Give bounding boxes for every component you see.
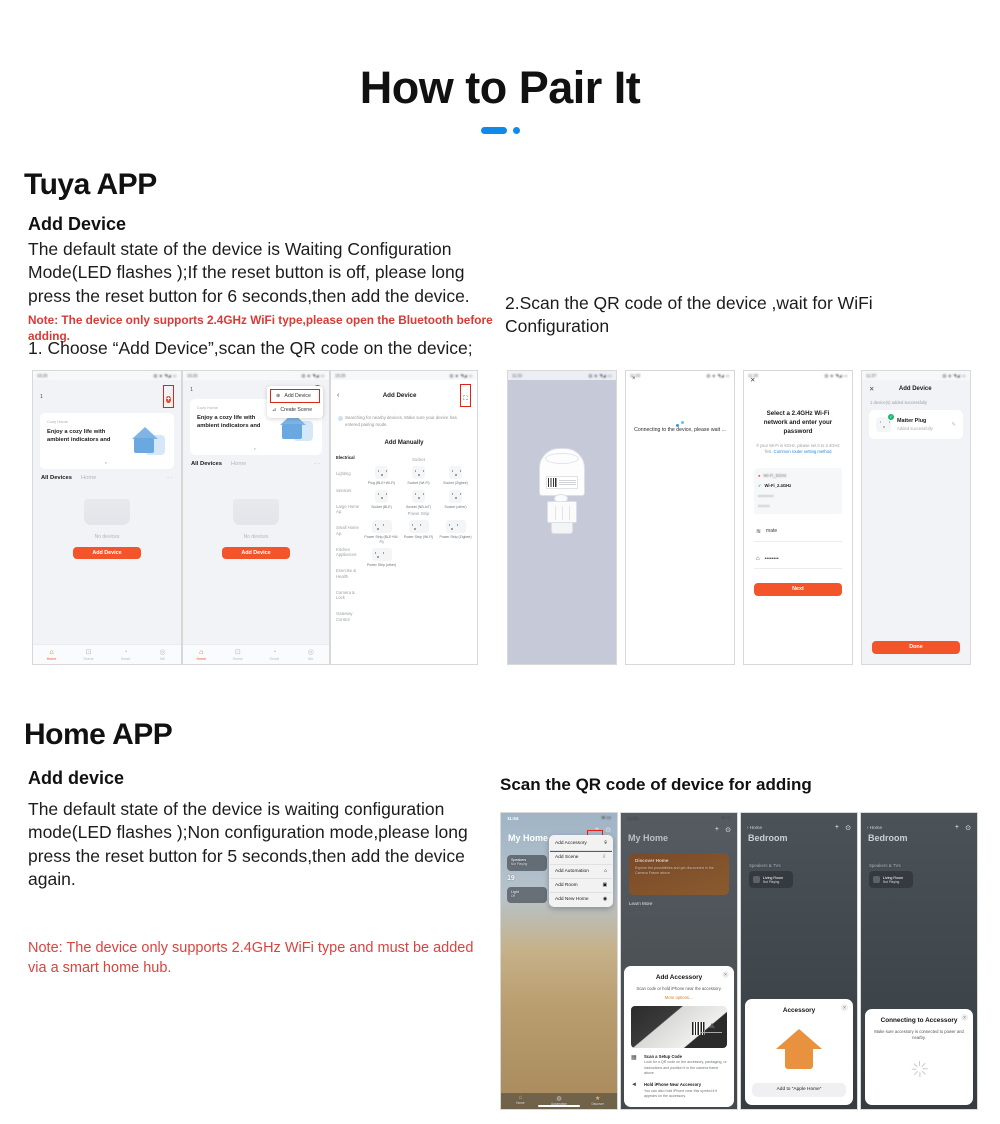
phone-ios-add-accessory: 11:55≋ ▭ My Home + ⊙ Discover Home Explo… bbox=[620, 812, 738, 1110]
device-result-row[interactable]: ✓ Matter Plug Added successfully ✎ bbox=[869, 410, 963, 439]
phone-add-result: 11:37 ▨ ◈ ◥◢ ▭ ✕ Add Device 1 device(s) … bbox=[861, 370, 971, 665]
new-home-icon: ◉ bbox=[603, 897, 607, 902]
home-icon: ⌂ bbox=[183, 648, 220, 657]
status-time: 11:37 bbox=[866, 373, 876, 378]
bottom-nav: ⌂Home ⊡Scene ◔Smart ◎Me bbox=[33, 644, 181, 664]
home-indicator bbox=[538, 1105, 580, 1107]
close-icon[interactable]: × bbox=[632, 376, 636, 382]
me-icon: ◎ bbox=[293, 648, 330, 657]
home-sub-title: Add device bbox=[28, 768, 124, 789]
tuya-step-1: 1. Choose “Add Device”,scan the QR code … bbox=[28, 337, 498, 360]
sheet-title: Connecting to Accessory bbox=[872, 1017, 966, 1025]
sidebar-item-gateway-control[interactable]: Gateway Control bbox=[336, 611, 364, 622]
close-icon[interactable]: ✕ bbox=[722, 971, 729, 978]
qr-label bbox=[546, 476, 578, 489]
empty-illustration bbox=[84, 499, 130, 525]
home-scan-heading: Scan the QR code of device for adding bbox=[500, 775, 812, 795]
device-name: Matter Plug bbox=[897, 418, 933, 424]
card-tag: Cozy Home bbox=[47, 419, 167, 424]
device-grid: Socket Plug (BLE+Wi-Fi) Socket (Wi-Fi) S… bbox=[364, 455, 477, 633]
power-strip-icon bbox=[409, 520, 429, 533]
password-field[interactable]: ⌂ •••••••• bbox=[754, 550, 842, 569]
nfc-icon: ◄ bbox=[631, 1082, 639, 1099]
category-sidebar: Electrical Lighting Sensors Large Home A… bbox=[331, 455, 364, 633]
next-button[interactable]: Next bbox=[754, 583, 842, 596]
status-bar: 11:33 ▨ ◈ ◥◢ ▭ bbox=[626, 371, 734, 380]
page-title: How to Pair It bbox=[0, 0, 1000, 114]
status-time: 11:32 bbox=[512, 373, 522, 378]
phone-ios-accessory-found: ‹ Home + ⊙ Bedroom Speakers & TVs Living… bbox=[740, 812, 858, 1110]
socket-icon bbox=[412, 490, 425, 503]
more-icon[interactable]: ⊙ bbox=[725, 826, 731, 834]
temperature-label: 19 bbox=[507, 875, 515, 882]
tab-home[interactable]: Home bbox=[231, 461, 246, 467]
option-hold-iphone-near[interactable]: ◄ Hold iPhone Near Accessory You can als… bbox=[631, 1082, 727, 1099]
empty-illustration bbox=[233, 499, 279, 525]
status-bar: 15:25 ▨ ◈ ◥◢ ▭ bbox=[331, 371, 477, 380]
create-scene-icon: ⊿ bbox=[272, 407, 276, 413]
menu-item-add-room[interactable]: Add Room▣ bbox=[550, 879, 612, 893]
blocked-icon: ● bbox=[758, 473, 761, 478]
indicator-dash bbox=[481, 127, 507, 134]
qr-scan-icon: ▦ bbox=[631, 1054, 639, 1076]
phone-ios-home-menu: 11:54 ≋ ▭ My Home + ⊙ SpeakersNot Playin… bbox=[500, 812, 618, 1110]
status-icons: ▨ ◈ ◥◢ ▭ bbox=[154, 373, 177, 378]
discover-banner[interactable]: Discover Home Explore the possibilities … bbox=[629, 853, 729, 895]
back-link[interactable]: ‹ Home bbox=[867, 825, 882, 830]
device-status: Added successfully bbox=[897, 426, 933, 431]
socket-icon bbox=[412, 466, 425, 479]
qr-code-icon bbox=[692, 1022, 705, 1035]
device-tile[interactable]: Socket (Wi-Fi) bbox=[401, 466, 436, 486]
status-time: 11:54 bbox=[507, 816, 519, 821]
status-icons: ≋ ▭ bbox=[602, 815, 611, 821]
home-section-title: Home APP bbox=[24, 718, 172, 752]
wifi-icon: ≋ bbox=[756, 528, 761, 535]
device-tile[interactable]: Socket (Zigbee) bbox=[438, 466, 473, 486]
card-headline: Enjoy a cozy life with ambient indicator… bbox=[197, 414, 265, 431]
warning-triangle-icon bbox=[709, 1023, 715, 1028]
room-title: Bedroom bbox=[868, 833, 908, 843]
accessory-tile[interactable]: Living Room Not Playing bbox=[869, 871, 913, 888]
wifi-sub-text: If your Wi-Fi is 5GHz, please set it to … bbox=[754, 443, 842, 456]
device-tile[interactable]: Power Strip (Wi-Fi) bbox=[401, 520, 436, 544]
nav-item-scene[interactable]: ⊡Scene bbox=[220, 645, 257, 664]
empty-text: No devices bbox=[183, 534, 329, 540]
tuya-sub-title: Add Device bbox=[28, 214, 126, 235]
socket-icon bbox=[449, 466, 462, 479]
sidebar-item-lighting[interactable]: Lighting bbox=[336, 471, 364, 476]
sheet-subtitle: Scan code or hold iPhone near the access… bbox=[631, 986, 727, 992]
device-tile[interactable]: Power Strip (BLE+Wi-Fi) bbox=[364, 520, 399, 544]
menu-item-add-scene[interactable]: Add Scene☾ bbox=[550, 851, 612, 865]
menu-item-add-automation[interactable]: Add Automation⌂ bbox=[550, 865, 612, 879]
wifi-row-dim-2[interactable]: ▭▭▭ bbox=[758, 501, 838, 511]
plug-icon: ✓ bbox=[876, 417, 891, 432]
smart-icon: ◔ bbox=[107, 648, 144, 657]
title-underline-indicator bbox=[0, 127, 1000, 134]
menu-item-add-device[interactable]: ⊕ Add Device bbox=[270, 389, 320, 403]
back-icon[interactable]: ‹ bbox=[337, 392, 339, 399]
speaker-icon bbox=[873, 876, 880, 883]
room-icon: ▣ bbox=[602, 883, 607, 888]
accessory-sheet: ✕ Accessory Add to “Apple Home” bbox=[745, 999, 853, 1105]
home-title: My Home bbox=[628, 833, 668, 843]
empty-text: No devices bbox=[33, 534, 181, 540]
searching-hint: Searching for nearby devices. Make sure … bbox=[331, 411, 477, 428]
menu-item-add-accessory[interactable]: Add Accessory⌾ bbox=[550, 836, 612, 851]
status-bar: 15:25 ▨ ◈ ◥◢ ▭ bbox=[183, 371, 329, 380]
status-bar: 11:55≋ ▭ bbox=[621, 813, 737, 823]
scene-icon: ☾ bbox=[603, 855, 607, 860]
device-tile[interactable]: Socket (other) bbox=[438, 490, 473, 510]
back-link[interactable]: ‹ Home bbox=[747, 825, 762, 830]
sheet-title: Accessory bbox=[752, 1007, 846, 1015]
nav-item-me[interactable]: ◎Me bbox=[293, 645, 330, 664]
lock-icon: ⌂ bbox=[756, 556, 760, 562]
status-icons: ▨ ◈ ◥◢ ▭ bbox=[943, 373, 966, 378]
status-icons: ▨ ◈ ◥◢ ▭ bbox=[825, 373, 848, 378]
status-icons: ▨ ◈ ◥◢ ▭ bbox=[450, 373, 473, 378]
plus-icon[interactable]: + bbox=[835, 824, 839, 831]
connecting-sheet: ✕ Connecting to Accessory Make sure acce… bbox=[865, 1009, 973, 1105]
sidebar-item-electrical[interactable]: Electrical bbox=[336, 455, 364, 460]
bluetooth-dot-icon bbox=[338, 416, 343, 421]
status-bar: 15:25 ▨ ◈ ◥◢ ▭ bbox=[33, 371, 181, 380]
add-to-apple-home-button[interactable]: Add to “Apple Home” bbox=[752, 1083, 846, 1097]
socket-icon bbox=[375, 490, 388, 503]
room-title: Bedroom bbox=[748, 833, 788, 843]
tab-home[interactable]: Home bbox=[81, 475, 96, 481]
router-setting-link[interactable]: Common router setting method bbox=[774, 449, 832, 454]
automation-icon: ⌂ bbox=[604, 869, 607, 874]
home-title: My Home bbox=[508, 833, 548, 843]
add-device-icon: ⊕ bbox=[276, 393, 280, 399]
sidebar-item-sensors[interactable]: Sensors bbox=[336, 488, 364, 493]
accessory-icon: ⌾ bbox=[604, 840, 607, 846]
phone-tuya-home: 15:25 ▨ ◈ ◥◢ ▭ 1 + Cozy Home Enjoy a coz… bbox=[32, 370, 182, 665]
tuya-section-title: Tuya APP bbox=[24, 168, 157, 202]
page-title: Add Device bbox=[383, 392, 417, 399]
tuya-step-2: 2.Scan the QR code of the device ,wait f… bbox=[505, 292, 905, 339]
nav-item-home[interactable]: ⌂Home bbox=[183, 645, 220, 664]
device-tile[interactable]: Plug (BLE+Wi-Fi) bbox=[364, 466, 399, 486]
add-manually-title: Add Manually bbox=[331, 440, 477, 446]
camera-preview[interactable] bbox=[631, 1006, 727, 1048]
status-time: 15:25 bbox=[335, 373, 345, 378]
menu-item-create-scene[interactable]: ⊿ Create Scene bbox=[267, 404, 323, 416]
home-selector[interactable]: 1 bbox=[190, 387, 193, 393]
tab-discover[interactable]: ★Discover bbox=[578, 1093, 617, 1109]
add-device-button[interactable]: Add Device bbox=[73, 547, 141, 559]
smart-icon: ◔ bbox=[256, 648, 293, 657]
sheet-title: Add Accessory bbox=[631, 974, 727, 982]
ssid-field[interactable]: ≋ mate bbox=[754, 522, 842, 542]
more-icon[interactable]: ··· bbox=[313, 461, 321, 467]
group-label-socket: Socket bbox=[364, 457, 473, 462]
scan-qr-icon[interactable]: ⛶ bbox=[463, 396, 467, 402]
page-root: How to Pair It Tuya APP Add Device The d… bbox=[0, 0, 1000, 1124]
nav-item-me[interactable]: ◎Me bbox=[144, 645, 181, 664]
star-icon: ★ bbox=[578, 1095, 617, 1102]
close-icon[interactable]: ✕ bbox=[841, 1004, 848, 1011]
phone-wifi-setup: 11:35 ▨ ◈ ◥◢ ▭ ✕ Select a 2.4GHz Wi-Fi n… bbox=[743, 370, 853, 665]
status-icons: ▨ ◈ ◥◢ ▭ bbox=[707, 373, 730, 378]
wifi-row-5ghz[interactable]: ●Wi-Fi_5GHz bbox=[758, 471, 838, 481]
plus-icon[interactable]: + bbox=[955, 824, 959, 831]
success-badge-icon: ✓ bbox=[888, 414, 894, 420]
phone-tuya-menu: 15:25 ▨ ◈ ◥◢ ▭ 1 + ⊕ Add Device ⊿ Create… bbox=[182, 370, 330, 665]
home-selector[interactable]: 1 bbox=[40, 394, 43, 400]
group-label: Speakers & TVs bbox=[869, 863, 901, 868]
scene-icon: ⊡ bbox=[220, 648, 257, 657]
automation-icon: ◍ bbox=[540, 1095, 579, 1102]
status-time: 15:25 bbox=[187, 373, 197, 378]
nav-item-smart[interactable]: ◔Smart bbox=[107, 645, 144, 664]
tuya-body-text: The default state of the device is Waiti… bbox=[28, 238, 503, 308]
device-tile[interactable]: Power Strip (Zigbee) bbox=[438, 520, 473, 544]
ios-tile[interactable]: SpeakersNot Playing bbox=[507, 855, 547, 871]
house-icon bbox=[776, 1029, 822, 1069]
add-device-button[interactable]: Add Device bbox=[222, 547, 290, 559]
close-icon[interactable]: ✕ bbox=[961, 1014, 968, 1021]
nav-item-home[interactable]: ⌂Home bbox=[33, 645, 70, 664]
group-label-power-strip: Power Strip bbox=[364, 511, 473, 516]
tab-all-devices[interactable]: All Devices bbox=[191, 461, 222, 467]
wifi-network-list: ●Wi-Fi_5GHz ✓Wi-Fi_2.4GHz ▭▭▭▭ ▭▭▭ bbox=[754, 468, 842, 514]
indicator-dot bbox=[513, 127, 520, 134]
phone-add-device: 15:25 ▨ ◈ ◥◢ ▭ ‹ Add Device ⛶ Searching … bbox=[330, 370, 478, 665]
tab-home[interactable]: ⌂Home bbox=[501, 1093, 540, 1109]
ios-tile[interactable]: LightOff bbox=[507, 887, 547, 903]
power-strip-icon bbox=[372, 520, 392, 533]
page-title: Add Device bbox=[874, 386, 956, 392]
device-tile[interactable]: Socket (BLE) bbox=[364, 490, 399, 510]
socket-icon bbox=[449, 490, 462, 503]
speaker-icon bbox=[753, 876, 760, 883]
close-icon[interactable]: ✕ bbox=[750, 376, 755, 384]
device-tile[interactable]: Socket (NB-IoT) bbox=[401, 490, 436, 510]
carousel-dots[interactable]: ● · bbox=[254, 446, 259, 451]
scan-button-highlight: ⛶ bbox=[460, 384, 471, 407]
device-tile[interactable]: Power Strip (other) bbox=[364, 548, 399, 568]
add-menu-popup: Add Accessory⌾ Add Scene☾ Add Automation… bbox=[549, 835, 613, 907]
sidebar-item-small-home-ap[interactable]: Small Home Ap. bbox=[336, 525, 364, 536]
sidebar-item-large-home-ap[interactable]: Large Home Ap. bbox=[336, 504, 364, 515]
status-bar: 11:35 ▨ ◈ ◥◢ ▭ bbox=[744, 371, 852, 380]
plus-icon[interactable]: + bbox=[166, 396, 170, 403]
status-bar: 11:54 ≋ ▭ bbox=[501, 813, 617, 823]
done-button[interactable]: Done bbox=[872, 641, 960, 654]
home-icon: ⌂ bbox=[33, 648, 70, 657]
learn-more-link[interactable]: Learn More bbox=[629, 901, 653, 906]
phone-ios-connecting: ‹ Home + ⊙ Bedroom Speakers & TVs Living… bbox=[860, 812, 978, 1110]
more-icon[interactable]: ⊙ bbox=[845, 824, 851, 832]
connecting-text: Connecting to the device, please wait ..… bbox=[626, 427, 734, 433]
add-accessory-sheet: ✕ Add Accessory Scan code or hold iPhone… bbox=[624, 966, 734, 1107]
sidebar-item-kitchen-appliances[interactable]: Kitchen Appliances bbox=[336, 547, 364, 558]
bottom-nav: ⌂Home ⊡Scene ◔Smart ◎Me bbox=[183, 644, 329, 664]
check-icon: ✓ bbox=[758, 483, 762, 488]
device-illustration bbox=[535, 448, 589, 540]
home-note: Note: The device only supports 2.4GHz Wi… bbox=[28, 938, 478, 979]
qr-code-icon bbox=[548, 478, 557, 487]
status-bar: 11:37 ▨ ◈ ◥◢ ▭ bbox=[862, 371, 970, 380]
add-button-highlight: + bbox=[163, 385, 174, 408]
power-strip-icon bbox=[372, 548, 392, 561]
sheet-subtitle: Make sure accessory is connected to powe… bbox=[872, 1029, 966, 1041]
me-icon: ◎ bbox=[144, 648, 181, 657]
loading-spinner-icon bbox=[911, 1061, 927, 1077]
wifi-row-24ghz[interactable]: ✓Wi-Fi_2.4GHz bbox=[758, 481, 838, 491]
sidebar-item-camera-lock[interactable]: Camera & Lock bbox=[336, 590, 364, 601]
scene-icon: ⊡ bbox=[70, 648, 107, 657]
plus-icon[interactable]: + bbox=[715, 826, 719, 833]
status-icons: ▨ ◈ ◥◢ ▭ bbox=[302, 373, 325, 378]
phone-qr-scan: 11:32 ▨ ◈ ◥◢ ▭ bbox=[507, 370, 617, 665]
more-icon[interactable]: ⊙ bbox=[605, 826, 611, 834]
accessory-tile[interactable]: Living Room Not Playing bbox=[749, 871, 793, 888]
option-scan-setup-code[interactable]: ▦ Scan a Setup Code Look for a QR code o… bbox=[631, 1054, 727, 1076]
menu-item-add-new-home[interactable]: Add New Home◉ bbox=[550, 893, 612, 906]
group-label: Speakers & TVs bbox=[749, 863, 781, 868]
socket-icon bbox=[375, 466, 388, 479]
nav-item-scene[interactable]: ⊡Scene bbox=[70, 645, 107, 664]
add-menu-popup: ⊕ Add Device ⊿ Create Scene bbox=[267, 386, 323, 418]
status-bar: 11:32 ▨ ◈ ◥◢ ▭ bbox=[508, 371, 616, 380]
card-headline: Enjoy a cozy life with ambient indicator… bbox=[47, 428, 117, 445]
more-options-link[interactable]: More options… bbox=[631, 995, 727, 1000]
carousel-dots[interactable]: ● · bbox=[105, 460, 110, 465]
status-time: 15:25 bbox=[37, 373, 47, 378]
phone-connecting: 11:33 ▨ ◈ ◥◢ ▭ × Connecting to the devic… bbox=[625, 370, 735, 665]
nav-item-smart[interactable]: ◔Smart bbox=[256, 645, 293, 664]
pencil-icon[interactable]: ✎ bbox=[951, 422, 956, 428]
wifi-row-dim-1[interactable]: ▭▭▭▭ bbox=[758, 491, 838, 501]
result-note: 1 device(s) added successfully bbox=[862, 398, 970, 410]
power-strip-icon bbox=[446, 520, 466, 533]
wifi-heading: Select a 2.4GHz Wi-Fi network and enter … bbox=[754, 410, 842, 437]
tab-all-devices[interactable]: All Devices bbox=[41, 475, 72, 481]
cozy-home-card[interactable]: Cozy Home Enjoy a cozy life with ambient… bbox=[40, 413, 174, 469]
status-icons: ▨ ◈ ◥◢ ▭ bbox=[589, 373, 612, 378]
home-body-text: The default state of the device is waiti… bbox=[28, 798, 478, 891]
more-icon[interactable]: ⊙ bbox=[965, 824, 971, 832]
sidebar-item-exercise-health[interactable]: Exercise & Health bbox=[336, 568, 364, 579]
more-icon[interactable]: ··· bbox=[165, 475, 173, 481]
house-illustration bbox=[128, 427, 166, 457]
